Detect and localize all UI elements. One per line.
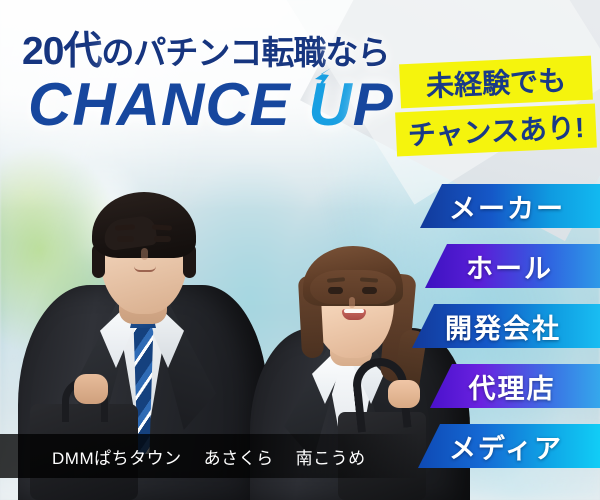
logo-letter-u: U [308,71,352,138]
logo-chance-up: CHANCE UP [28,70,394,139]
logo-letter-p: P [353,71,394,138]
category-label-media: メディア [449,427,563,466]
man-mouth [134,266,156,272]
headline-middle: のパチンコ転職 [101,34,325,71]
credit-person-1: あさくら [204,449,274,468]
category-button-maker[interactable]: メーカー [420,184,600,228]
man-eye-left [117,236,134,242]
badge-chance-available: チャンスあり! [395,103,597,156]
badge-chance-available-label: チャンスあり! [407,106,585,154]
woman-hand [388,380,420,408]
woman-eye-left [328,287,343,294]
logo-word-chance: CHANCE [28,71,291,138]
credit-site-name: DMMぱちタウン [52,449,182,468]
category-button-media[interactable]: メディア [418,424,600,468]
headline-suffix: なら [325,34,389,71]
category-button-hall[interactable]: ホール [425,244,600,288]
category-label-hall: ホール [466,247,553,286]
credit-text: DMMぱちタウンあさくら南こうめ [0,444,366,469]
category-button-development-company[interactable]: 開発会社 [412,304,600,348]
headline-text: 20代のパチンコ転職なら [22,20,389,76]
category-button-agency[interactable]: 代理店 [430,364,600,408]
man-hand [74,374,108,404]
woman-mouth [342,309,366,320]
woman-nose [349,297,355,308]
category-label-agency: 代理店 [469,367,556,406]
badge-no-experience: 未経験でも [399,56,593,109]
advertisement-banner[interactable]: 20代のパチンコ転職なら CHANCE UP 未経験でも チャンスあり! メーカ… [0,0,600,500]
category-label-development-company: 開発会社 [445,307,561,346]
headline-age: 20代 [22,30,101,73]
category-label-maker: メーカー [449,187,565,226]
badge-no-experience-label: 未経験でも [425,59,567,105]
credit-person-2: 南こうめ [296,449,366,468]
man-eye-right [154,236,171,242]
woman-eye-right [362,287,377,294]
man-nose [141,248,148,260]
credit-bar: DMMぱちタウンあさくら南こうめ [0,434,420,478]
